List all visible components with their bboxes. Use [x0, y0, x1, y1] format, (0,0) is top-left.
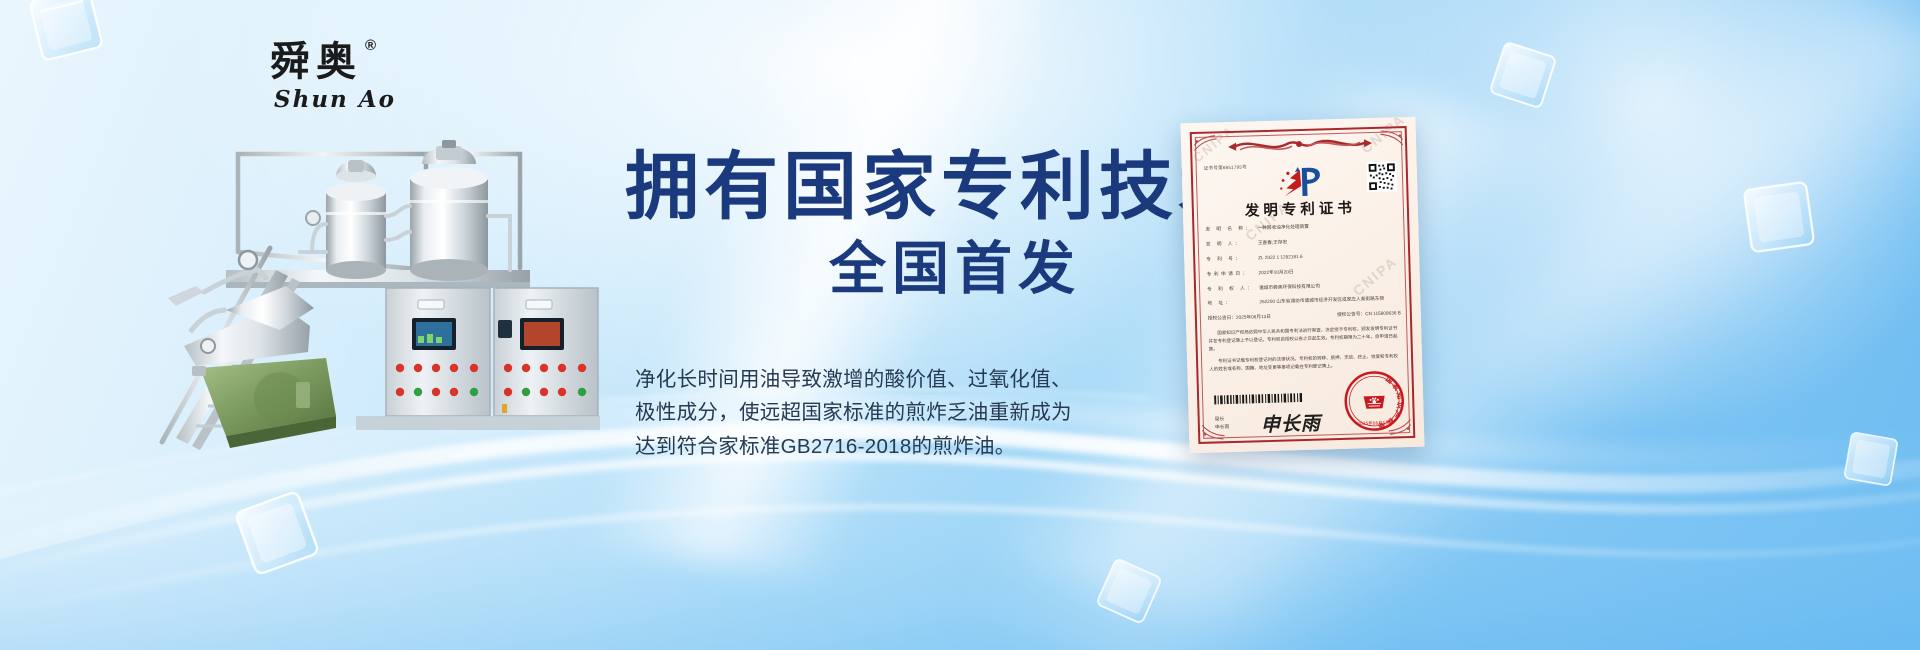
cnipa-emblem-icon: [1275, 163, 1324, 200]
corner-ornament-icon: [1378, 129, 1405, 156]
field-key: 发 明 人：: [1206, 240, 1258, 247]
director-label: 局长 申长雨: [1215, 416, 1230, 433]
official-seal-icon: 国家知识产权局 2025年06月13日: [1342, 369, 1406, 433]
field-row: 发 明 人： 王喜春;王存宏: [1206, 236, 1399, 247]
corner-ornament-icon: [1193, 134, 1220, 161]
pressure-gauge: [239, 251, 257, 269]
legal-paragraph-1: 国家知识产权局依照中华人民共和国专利法进行审查，决定授予专利权，颁发发明专利证书…: [1208, 325, 1402, 354]
description-paragraph: 净化长时间用油导致激增的酸价值、过氧化值、极性成分，使远超国家标准的煎炸乏油重新…: [635, 363, 1087, 463]
field-key: 地 址：: [1207, 300, 1259, 307]
field-value: 2022年10月20日: [1259, 266, 1400, 276]
field-value: 诸城市舜奥环保科技有限公司: [1259, 281, 1400, 291]
field-row: 专 利 权 人： 诸城市舜奥环保科技有限公司: [1207, 281, 1400, 292]
brand-name-cn: 舜奥 ®: [270, 42, 362, 82]
certificate-fields: 发 明 名 称： 一种回收油净化处理装置 发 明 人： 王喜春;王存宏 专 利 …: [1205, 221, 1402, 378]
registered-trademark-icon: ®: [365, 38, 382, 53]
qr-code-icon: [1367, 161, 1398, 192]
field-value: 王喜春;王存宏: [1258, 236, 1399, 246]
control-cabinet: [386, 288, 598, 416]
grant-date: 授权公告日：2025年06月13日: [1208, 314, 1271, 322]
field-row: 专 利 号： ZL 2022 1 1292181.6: [1206, 251, 1399, 262]
field-row: 地 址： 262200 山东省潍坊市诸城市经济开发区咸家庄人泰街路东侧: [1207, 296, 1400, 307]
oil-purification-equipment: [130, 120, 650, 460]
ice-cube-icon: [20, 0, 112, 70]
field-row: 专利申请日： 2022年10月20日: [1207, 266, 1400, 277]
pressure-gauge: [306, 211, 320, 225]
field-key: 专 利 权 人：: [1207, 285, 1259, 292]
grant-info-row: 授权公告日：2025年06月13日 授权公告号：CN 115809636 B: [1208, 311, 1401, 322]
field-key: 专 利 号：: [1206, 255, 1258, 262]
brand-name-cn-text: 舜奥: [270, 38, 362, 85]
field-value: ZL 2022 1 1292181.6: [1258, 251, 1399, 261]
patent-certificate: CNIPA CNIPA CNIPA CNIPA: [1180, 117, 1424, 453]
grant-number: 授权公告号：CN 115809636 B: [1337, 311, 1401, 319]
reaction-tank: [410, 140, 488, 281]
field-key: 发 明 名 称：: [1205, 225, 1257, 232]
brand-name-en: Shun Ao: [270, 86, 460, 113]
director-signature: 申长雨: [1260, 409, 1321, 438]
field-value: 262200 山东省潍坊市诸城市经济开发区咸家庄人泰街路东侧: [1259, 296, 1400, 306]
certificate-serial: 证书号第6851795号: [1204, 165, 1247, 172]
field-key: 专利申请日：: [1207, 270, 1259, 277]
pressure-gauge: [201, 339, 215, 353]
promotional-banner: 舜奥 ® Shun Ao 拥有国家专利技术 全国首发 净化长时间用油导致激增的酸…: [0, 0, 1920, 650]
brand-logo: 舜奥 ® Shun Ao: [270, 42, 460, 113]
